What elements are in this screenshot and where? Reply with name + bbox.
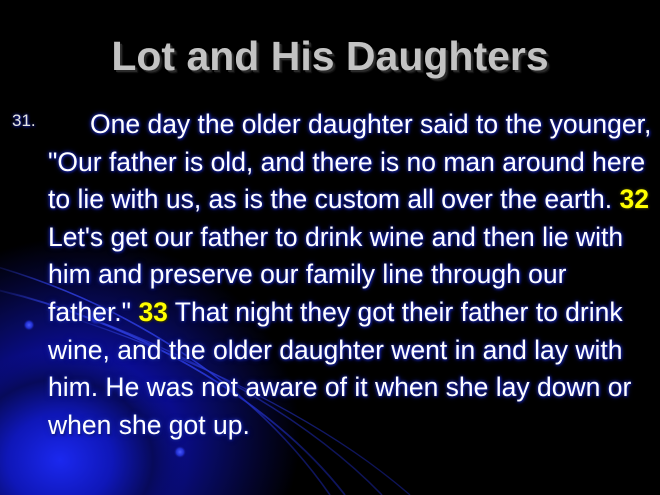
- node-lower: [174, 446, 186, 458]
- page-title: Lot and His Daughters: [0, 33, 660, 80]
- body-text-block: 31.One day the older daughter said to th…: [12, 106, 652, 444]
- list-number: 31.: [12, 111, 36, 131]
- slide-canvas: Lot and His Daughters 31.One day the old…: [0, 0, 660, 495]
- verse-number-33: 33: [138, 297, 167, 327]
- scripture-paragraph: 31.One day the older daughter said to th…: [12, 106, 652, 444]
- scripture-segment-1: One day the older daughter said to the y…: [48, 109, 651, 214]
- verse-number-32: 32: [619, 184, 648, 214]
